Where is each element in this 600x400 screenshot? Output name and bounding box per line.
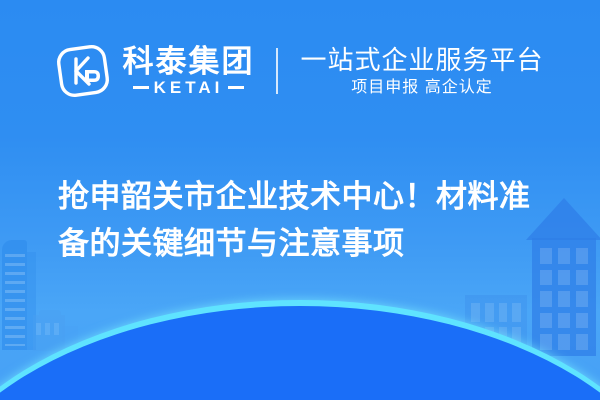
headline-line-2: 备的关键细节与注意事项 [58,226,405,261]
window-cell [576,248,588,264]
tagline-primary: 一站式企业服务平台 [300,47,543,73]
window-cell [471,327,480,346]
blue-ground [0,306,600,400]
brand-text-block: 科泰集团 KETAI [122,46,254,96]
brand-dash-left-icon [133,86,149,89]
window-cell [485,327,494,346]
left-small-building-icon [62,326,78,351]
tagline-secondary: 项目申报 高企认定 [351,80,492,96]
window-cell [540,334,552,350]
brand-name-en-row: KETAI [133,79,245,96]
tagline-block: 一站式企业服务平台 项目申报 高企认定 [300,47,543,96]
window-cell [471,303,480,322]
window-cell [485,303,494,322]
window-cell [558,248,570,264]
window-cell [540,313,552,329]
brand-name-cn: 科泰集团 [122,46,254,77]
window-cell [540,291,552,307]
window-cell [540,270,552,286]
window-cell [576,313,588,329]
window-cell [558,313,570,329]
window-cell [558,291,570,307]
left-skyscraper-icon [2,240,27,350]
window-cell [576,291,588,307]
left-midrise-building-icon [33,315,65,351]
window-cell [576,334,588,350]
left-skyscraper-shadow [27,252,36,350]
banner-header: 科泰集团 KETAI 一站式企业服务平台 项目申报 高企认定 [0,28,600,114]
header-divider [276,48,278,94]
brand-lockup[interactable]: 科泰集团 KETAI [56,44,254,98]
left-skyscraper-windows [5,254,25,346]
window-cell [499,327,508,346]
left-midrise-roof [39,310,61,316]
brand-dash-right-icon [228,86,244,89]
headline-line-1: 抢申韶关市企业技术中心！材料准 [58,179,531,214]
window-cell [558,334,570,350]
window-cell [512,327,521,346]
window-cell [512,303,521,322]
left-midrise-windows [36,323,62,335]
right-wide-building-icon [465,295,527,356]
window-cell [558,270,570,286]
window-cell [499,303,508,322]
cyan-horizon-arc [0,300,600,400]
window-cell [576,270,588,286]
ketai-monogram-logo-icon [56,44,110,98]
promotional-banner: 科泰集团 KETAI 一站式企业服务平台 项目申报 高企认定 抢申韶关市企业技术… [0,0,600,400]
headline-title: 抢申韶关市企业技术中心！材料准备的关键细节与注意事项 [58,173,558,267]
right-wide-building-window-grid [471,303,521,346]
brand-name-en: KETAI [154,79,224,96]
